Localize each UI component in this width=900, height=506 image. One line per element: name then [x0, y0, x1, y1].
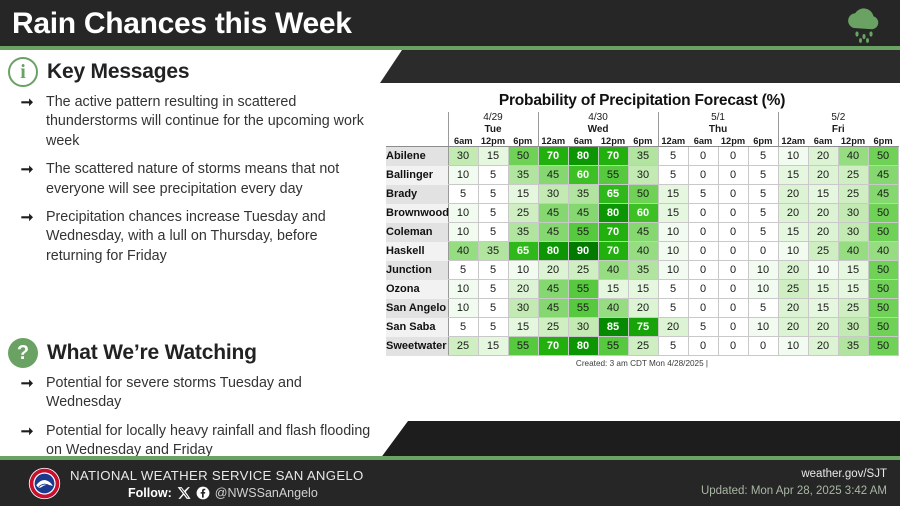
precip-probability-cell: 0 [718, 261, 748, 280]
precip-probability-cell: 10 [658, 223, 688, 242]
precip-probability-cell: 15 [658, 185, 688, 204]
precip-probability-cell: 50 [868, 223, 898, 242]
precip-probability-cell: 10 [778, 337, 808, 356]
hour-column-header: 6am [448, 136, 478, 147]
precip-probability-cell: 0 [688, 223, 718, 242]
hour-column-header: 6am [568, 136, 598, 147]
precip-probability-cell: 20 [808, 223, 838, 242]
precip-probability-cell: 5 [748, 299, 778, 318]
precip-probability-cell: 20 [808, 166, 838, 185]
hour-column-header: 12pm [838, 136, 868, 147]
arrow-right-icon: ➞ [17, 422, 37, 459]
website-link[interactable]: weather.gov/SJT [801, 468, 887, 480]
day-date: 5/2 [831, 112, 845, 123]
agency-name: NATIONAL WEATHER SERVICE SAN ANGELO [70, 468, 364, 483]
precip-probability-cell: 20 [628, 299, 658, 318]
precip-probability-cell: 15 [808, 185, 838, 204]
precip-probability-cell: 30 [838, 223, 868, 242]
day-of-week: Fri [779, 124, 899, 136]
precip-probability-cell: 10 [448, 166, 478, 185]
table-row: Brownwood10525454580601500520203050 [386, 204, 898, 223]
precip-probability-cell: 55 [568, 223, 598, 242]
decorative-angled-bar-top [380, 50, 900, 86]
list-item-text: Potential for severe storms Tuesday and … [46, 374, 376, 413]
precip-probability-cell: 15 [838, 261, 868, 280]
precip-probability-cell: 20 [778, 299, 808, 318]
precip-probability-cell: 0 [718, 318, 748, 337]
precip-probability-cell: 20 [658, 318, 688, 337]
city-name-cell: Ballinger [386, 166, 448, 185]
precip-probability-cell: 20 [778, 204, 808, 223]
precip-probability-cell: 10 [778, 147, 808, 166]
precip-probability-cell: 10 [778, 242, 808, 261]
precip-probability-cell: 10 [448, 299, 478, 318]
list-item: ➞ Potential for severe storms Tuesday an… [8, 374, 388, 413]
precip-probability-cell: 5 [478, 261, 508, 280]
precip-probability-cell: 0 [688, 337, 718, 356]
table-row: Brady5515303565501550520152545 [386, 185, 898, 204]
precip-probability-cell: 20 [808, 337, 838, 356]
precip-probability-cell: 50 [868, 204, 898, 223]
precip-probability-cell: 25 [778, 280, 808, 299]
precip-probability-cell: 5 [748, 204, 778, 223]
arrow-right-icon: ➞ [17, 374, 37, 413]
precip-probability-cell: 5 [658, 147, 688, 166]
precip-probability-cell: 5 [688, 185, 718, 204]
precip-probability-cell: 30 [508, 299, 538, 318]
precip-probability-cell: 20 [808, 318, 838, 337]
precip-probability-cell: 0 [748, 337, 778, 356]
question-icon: ? [8, 338, 38, 368]
arrow-right-icon: ➞ [17, 160, 37, 199]
precip-probability-cell: 10 [448, 223, 478, 242]
precip-probability-cell: 5 [658, 299, 688, 318]
key-messages-section: i Key Messages ➞ The active pattern resu… [8, 57, 388, 275]
precip-probability-cell: 0 [688, 299, 718, 318]
precip-probability-cell: 0 [718, 166, 748, 185]
precip-probability-cell: 55 [508, 337, 538, 356]
precip-probability-cell: 70 [598, 147, 628, 166]
arrow-right-icon: ➞ [17, 93, 37, 151]
hour-column-header: 6pm [868, 136, 898, 147]
precip-probability-cell: 25 [838, 299, 868, 318]
cloud-rain-icon [842, 6, 884, 44]
what-were-watching-heading: ? What We’re Watching [8, 338, 388, 368]
list-item-text: Precipitation chances increase Tuesday a… [46, 208, 376, 266]
precip-probability-cell: 30 [628, 166, 658, 185]
precip-probability-cell: 5 [448, 185, 478, 204]
day-of-week: Wed [539, 124, 658, 136]
city-name-cell: Brady [386, 185, 448, 204]
city-name-cell: Brownwood [386, 204, 448, 223]
precip-probability-cell: 10 [748, 280, 778, 299]
precip-probability-cell: 10 [748, 318, 778, 337]
precip-probability-cell: 70 [538, 337, 568, 356]
info-icon: i [8, 57, 38, 87]
precip-probability-cell: 5 [658, 337, 688, 356]
precip-probability-cell: 20 [808, 147, 838, 166]
precip-probability-cell: 20 [778, 318, 808, 337]
hour-column-header: 12pm [718, 136, 748, 147]
table-corner-cell [386, 112, 448, 136]
hour-column-header: 6pm [508, 136, 538, 147]
table-row: San Saba55152530857520501020203050 [386, 318, 898, 337]
hour-column-header: 12am [658, 136, 688, 147]
precip-probability-cell: 55 [598, 337, 628, 356]
precip-probability-cell: 30 [538, 185, 568, 204]
precip-probability-cell: 10 [658, 242, 688, 261]
precip-probability-cell: 15 [508, 318, 538, 337]
key-messages-heading: i Key Messages [8, 57, 388, 87]
table-row: Ozona10520455515155001025151550 [386, 280, 898, 299]
precip-probability-cell: 15 [508, 185, 538, 204]
precip-probability-cell: 15 [628, 280, 658, 299]
hour-column-header: 12am [538, 136, 568, 147]
hour-column-header: 12am [778, 136, 808, 147]
precip-probability-cell: 40 [838, 147, 868, 166]
precip-probability-cell: 0 [688, 261, 718, 280]
list-item: ➞ The scattered nature of storms means t… [8, 160, 388, 199]
precip-probability-cell: 45 [868, 166, 898, 185]
precip-probability-cell: 45 [628, 223, 658, 242]
precip-probability-cell: 0 [718, 280, 748, 299]
list-item: ➞ Precipitation chances increase Tuesday… [8, 208, 388, 266]
table-row: Ballinger1053545605530500515202545 [386, 166, 898, 185]
precip-probability-cell: 25 [838, 185, 868, 204]
precip-probability-cell: 75 [628, 318, 658, 337]
precip-probability-cell: 80 [568, 337, 598, 356]
precip-probability-cell: 55 [568, 299, 598, 318]
precip-probability-cell: 55 [568, 280, 598, 299]
list-item-text: The scattered nature of storms means tha… [46, 160, 376, 199]
day-date: 4/30 [588, 112, 607, 123]
precip-probability-cell: 45 [568, 204, 598, 223]
created-timestamp: Created: 3 am CDT Mon 4/28/2025 | [386, 359, 898, 368]
what-were-watching-section: ? What We’re Watching ➞ Potential for se… [8, 338, 388, 459]
precip-probability-cell: 25 [508, 204, 538, 223]
precip-probability-cell: 50 [868, 299, 898, 318]
right-content-panel: Probability of Precipitation Forecast (%… [380, 50, 900, 459]
key-messages-list: ➞ The active pattern resulting in scatte… [8, 93, 388, 266]
precip-probability-cell: 10 [748, 261, 778, 280]
precip-probability-cell: 5 [688, 318, 718, 337]
day-group-header: 5/2Fri [778, 112, 898, 136]
city-name-cell: San Angelo [386, 299, 448, 318]
city-name-cell: San Saba [386, 318, 448, 337]
arrow-right-icon: ➞ [17, 208, 37, 266]
precip-probability-cell: 80 [598, 204, 628, 223]
left-content-panel: i Key Messages ➞ The active pattern resu… [0, 50, 392, 459]
precip-probability-cell: 15 [478, 337, 508, 356]
precip-probability-cell: 40 [448, 242, 478, 261]
precip-probability-cell: 0 [748, 242, 778, 261]
precip-probability-cell: 20 [508, 280, 538, 299]
precip-probability-cell: 35 [838, 337, 868, 356]
page-title: Rain Chances this Week [12, 3, 352, 45]
precip-probability-cell: 10 [448, 204, 478, 223]
precip-probability-cell: 15 [808, 280, 838, 299]
precip-probability-cell: 35 [628, 147, 658, 166]
precip-probability-cell: 5 [448, 318, 478, 337]
table-row: San Angelo1053045554020500520152550 [386, 299, 898, 318]
precip-probability-cell: 0 [718, 204, 748, 223]
day-group-header: 4/29Tue [448, 112, 538, 136]
precip-probability-cell: 45 [538, 280, 568, 299]
precip-probability-cell: 35 [628, 261, 658, 280]
decorative-angled-bar-bottom [380, 417, 900, 459]
precip-probability-cell: 25 [568, 261, 598, 280]
precip-probability-cell: 10 [658, 261, 688, 280]
precip-probability-cell: 80 [568, 147, 598, 166]
precip-probability-cell: 5 [478, 185, 508, 204]
city-name-cell: Sweetwater [386, 337, 448, 356]
precip-probability-cell: 30 [838, 318, 868, 337]
precip-probability-cell: 50 [868, 337, 898, 356]
precip-probability-cell: 45 [538, 299, 568, 318]
key-messages-title: Key Messages [47, 60, 189, 84]
precip-probability-cell: 15 [838, 280, 868, 299]
header-bar: Rain Chances this Week [0, 0, 900, 49]
footer-bar: NATIONAL WEATHER SERVICE SAN ANGELO Foll… [0, 460, 900, 506]
precip-probability-cell: 45 [538, 166, 568, 185]
precip-probability-cell: 50 [868, 280, 898, 299]
precip-probability-cell: 35 [508, 166, 538, 185]
precip-probability-cell: 0 [688, 280, 718, 299]
precip-probability-cell: 65 [508, 242, 538, 261]
city-name-cell: Coleman [386, 223, 448, 242]
precip-probability-cell: 5 [478, 166, 508, 185]
precip-probability-cell: 5 [748, 185, 778, 204]
day-date: 4/29 [483, 112, 502, 123]
precip-probability-cell: 20 [778, 185, 808, 204]
precip-probability-cell: 60 [568, 166, 598, 185]
precip-probability-cell: 50 [868, 147, 898, 166]
table-row: Haskell403565809070401000010254040 [386, 242, 898, 261]
precip-probability-cell: 50 [868, 318, 898, 337]
table-row: Coleman10535455570451000515203050 [386, 223, 898, 242]
precip-probability-cell: 5 [658, 166, 688, 185]
precip-probability-cell: 50 [508, 147, 538, 166]
city-name-cell: Haskell [386, 242, 448, 261]
follow-row: Follow: @NWSSanAngelo [128, 486, 318, 500]
precip-probability-cell: 20 [808, 204, 838, 223]
precip-probability-cell: 0 [688, 204, 718, 223]
social-handle[interactable]: @NWSSanAngelo [215, 486, 318, 500]
day-of-week: Thu [659, 124, 778, 136]
table-row: Junction55102025403510001020101550 [386, 261, 898, 280]
infographic-root: Rain Chances this Week i Key Messages ➞ [0, 0, 900, 506]
precip-probability-cell: 0 [688, 147, 718, 166]
precip-probability-cell: 0 [718, 223, 748, 242]
what-were-watching-title: What We’re Watching [47, 341, 257, 365]
day-group-header: 4/30Wed [538, 112, 658, 136]
x-twitter-icon[interactable] [177, 486, 191, 500]
precip-probability-cell: 15 [478, 147, 508, 166]
city-name-cell: Abilene [386, 147, 448, 166]
precipitation-probability-table: 4/29Tue4/30Wed5/1Thu5/2Fri 6am12pm6pm12a… [386, 112, 899, 356]
precip-probability-cell: 35 [568, 185, 598, 204]
hour-column-header: 6pm [628, 136, 658, 147]
precip-probability-cell: 30 [568, 318, 598, 337]
city-name-cell: Junction [386, 261, 448, 280]
precip-probability-cell: 0 [718, 147, 748, 166]
hour-column-header: 12pm [598, 136, 628, 147]
day-group-header: 5/1Thu [658, 112, 778, 136]
precip-probability-cell: 5 [478, 280, 508, 299]
list-item-text: Potential for locally heavy rainfall and… [46, 422, 376, 459]
precip-probability-cell: 0 [718, 337, 748, 356]
table-corner-cell [386, 136, 448, 147]
precip-probability-cell: 35 [508, 223, 538, 242]
table-body: Abilene30155070807035500510204050Balling… [386, 147, 898, 356]
precip-probability-cell: 5 [478, 318, 508, 337]
updated-timestamp: Updated: Mon Apr 28, 2025 3:42 AM [701, 485, 887, 497]
precip-probability-cell: 40 [598, 299, 628, 318]
precip-probability-cell: 5 [748, 223, 778, 242]
precip-probability-cell: 40 [598, 261, 628, 280]
precip-probability-cell: 15 [778, 166, 808, 185]
precip-probability-cell: 15 [778, 223, 808, 242]
precip-probability-cell: 55 [598, 166, 628, 185]
precip-probability-cell: 5 [658, 280, 688, 299]
precip-probability-cell: 5 [478, 223, 508, 242]
precip-probability-cell: 20 [778, 261, 808, 280]
precip-probability-cell: 40 [628, 242, 658, 261]
precip-probability-cell: 40 [868, 242, 898, 261]
hour-column-header: 12pm [478, 136, 508, 147]
precip-probability-cell: 0 [688, 242, 718, 261]
follow-label: Follow: [128, 486, 172, 500]
facebook-icon[interactable] [196, 486, 210, 500]
precip-probability-cell: 45 [538, 204, 568, 223]
precip-probability-cell: 15 [808, 299, 838, 318]
precip-probability-cell: 25 [448, 337, 478, 356]
precip-probability-cell: 20 [538, 261, 568, 280]
table-row: Abilene30155070807035500510204050 [386, 147, 898, 166]
precip-probability-cell: 70 [598, 223, 628, 242]
table-header-row-hours: 6am12pm6pm12am6am12pm6pm12am6am12pm6pm12… [386, 136, 898, 147]
precip-probability-cell: 25 [628, 337, 658, 356]
table-row: Sweetwater25155570805525500010203550 [386, 337, 898, 356]
precip-probability-cell: 65 [598, 185, 628, 204]
precip-probability-cell: 45 [868, 185, 898, 204]
table-header: 4/29Tue4/30Wed5/1Thu5/2Fri 6am12pm6pm12a… [386, 112, 898, 147]
precip-probability-cell: 70 [598, 242, 628, 261]
precip-probability-cell: 0 [718, 299, 748, 318]
precip-probability-cell: 30 [448, 147, 478, 166]
precip-probability-cell: 15 [598, 280, 628, 299]
city-name-cell: Ozona [386, 280, 448, 299]
precip-probability-cell: 35 [478, 242, 508, 261]
nws-seal-icon [28, 467, 61, 500]
list-item: ➞ Potential for locally heavy rainfall a… [8, 422, 388, 459]
precip-probability-cell: 10 [808, 261, 838, 280]
precip-probability-cell: 50 [868, 261, 898, 280]
precip-probability-cell: 70 [538, 147, 568, 166]
precip-probability-cell: 5 [448, 261, 478, 280]
precip-probability-cell: 25 [538, 318, 568, 337]
hour-column-header: 6pm [748, 136, 778, 147]
list-item: ➞ The active pattern resulting in scatte… [8, 93, 388, 151]
table-header-row-days: 4/29Tue4/30Wed5/1Thu5/2Fri [386, 112, 898, 136]
day-of-week: Tue [449, 124, 538, 136]
precip-probability-cell: 0 [688, 166, 718, 185]
list-item-text: The active pattern resulting in scattere… [46, 93, 376, 151]
precip-probability-cell: 25 [808, 242, 838, 261]
precip-probability-cell: 5 [478, 299, 508, 318]
precip-probability-cell: 0 [718, 185, 748, 204]
precip-probability-cell: 5 [478, 204, 508, 223]
precip-probability-cell: 15 [658, 204, 688, 223]
precip-probability-cell: 90 [568, 242, 598, 261]
hour-column-header: 6am [808, 136, 838, 147]
hour-column-header: 6am [688, 136, 718, 147]
precip-probability-cell: 45 [538, 223, 568, 242]
precip-probability-cell: 60 [628, 204, 658, 223]
precip-probability-cell: 25 [838, 166, 868, 185]
precip-probability-cell: 40 [838, 242, 868, 261]
what-were-watching-list: ➞ Potential for severe storms Tuesday an… [8, 374, 388, 459]
chart-title: Probability of Precipitation Forecast (%… [386, 92, 898, 110]
precip-probability-cell: 50 [628, 185, 658, 204]
precip-probability-cell: 30 [838, 204, 868, 223]
precip-probability-cell: 80 [538, 242, 568, 261]
precip-probability-cell: 0 [718, 242, 748, 261]
precip-probability-cell: 5 [748, 147, 778, 166]
precip-probability-cell: 85 [598, 318, 628, 337]
precip-probability-cell: 10 [448, 280, 478, 299]
precip-probability-cell: 10 [508, 261, 538, 280]
precip-probability-cell: 5 [748, 166, 778, 185]
day-date: 5/1 [711, 112, 725, 123]
precipitation-table-container: Probability of Precipitation Forecast (%… [386, 92, 898, 368]
